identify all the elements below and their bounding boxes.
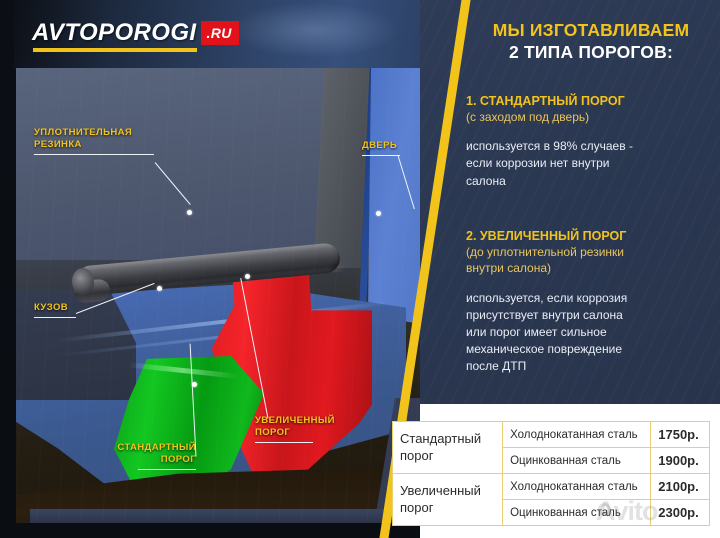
diagram-bottom-strip [30, 509, 420, 523]
callout-standard-underline [138, 469, 196, 471]
callout-door-underline [362, 155, 400, 157]
callout-standard-label: СТАНДАРТНЫЙ ПОРОГ [86, 442, 196, 466]
callout-seal: УПЛОТНИТЕЛЬНАЯ РЕЗИНКА [34, 127, 154, 155]
price-value: 2300р. [651, 500, 710, 526]
callout-standard-dot [192, 382, 197, 387]
table-row: Стандартный порог Холоднокатанная сталь … [393, 422, 710, 448]
price-value: 2100р. [651, 474, 710, 500]
table-row: Увеличенный порог Холоднокатанная сталь … [393, 474, 710, 500]
standard-sill-shape [114, 356, 264, 501]
door-edge [358, 68, 376, 324]
price-material: Холоднокатанная сталь [503, 422, 651, 448]
callout-enlarged-underline [255, 442, 313, 444]
enlarged-sill-shape [212, 254, 372, 489]
upper-body-panel [16, 68, 346, 260]
floor-shadow [16, 466, 420, 523]
callout-seal-label: УПЛОТНИТЕЛЬНАЯ РЕЗИНКА [34, 127, 154, 151]
callout-standard-sill: СТАНДАРТНЫЙ ПОРОГ [86, 442, 196, 470]
callout-body-underline [34, 317, 76, 319]
poster-root: AVTOPOROGI .RU УПЛОТНИТЕЛЬНАЯ РЕЗИНКА ДВ… [0, 0, 720, 538]
headline-line-2: 2 ТИПА ПОРОГОВ: [466, 42, 716, 64]
diagram-stage [0, 0, 420, 538]
standard-sill-highlight [128, 362, 238, 378]
price-material: Холоднокатанная сталь [503, 474, 651, 500]
block-2-body: используется, если коррозия присутствует… [466, 290, 712, 375]
headline-line-1: МЫ ИЗГОТАВЛИВАЕМ [466, 20, 716, 42]
block-1-title: 1. СТАНДАРТНЫЙ ПОРОГ [466, 93, 712, 109]
callout-enlarged-dot [245, 274, 250, 279]
price-group-standard: Стандартный порог [393, 422, 503, 474]
callout-door-dot [376, 211, 381, 216]
door-seal-rubber [75, 242, 342, 297]
sill-type-block-standard: 1. СТАНДАРТНЫЙ ПОРОГ (с заходом под двер… [466, 93, 712, 190]
callout-door: ДВЕРЬ [362, 140, 400, 156]
sill-type-block-enlarged: 2. УВЕЛИЧЕННЫЙ ПОРОГ (до уплотнительной … [466, 228, 712, 375]
block-1-subtitle: (с заходом под дверь) [466, 109, 712, 125]
headline: МЫ ИЗГОТАВЛИВАЕМ 2 ТИПА ПОРОГОВ: [466, 20, 716, 64]
price-material: Оцинкованная сталь [503, 500, 651, 526]
door-seal-lip [73, 278, 111, 303]
callout-body: КУЗОВ [34, 302, 76, 318]
block-1-body: используется в 98% случаев - если корроз… [466, 138, 712, 189]
callout-enlarged-label: УВЕЛИЧЕННЫЙ ПОРОГ [255, 415, 375, 439]
callout-door-label: ДВЕРЬ [362, 140, 400, 152]
body-highlight-secondary [57, 318, 375, 357]
callout-seal-underline [34, 154, 154, 156]
logo-underline-bar [33, 48, 197, 52]
callout-body-dot [157, 286, 162, 291]
logo-wordmark: AVTOPOROGI [32, 21, 196, 45]
callout-seal-dot [187, 210, 192, 215]
door-panel [368, 68, 420, 326]
car-body-shape [16, 284, 406, 519]
price-material: Оцинкованная сталь [503, 448, 651, 474]
body-highlight [57, 301, 385, 342]
callout-enlarged-sill: УВЕЛИЧЕННЫЙ ПОРОГ [255, 415, 375, 443]
enlarged-sill-highlight [226, 262, 346, 272]
door-gap-panel [314, 68, 389, 268]
brand-logo[interactable]: AVTOPOROGI .RU [32, 21, 239, 45]
price-value: 1750р. [651, 422, 710, 448]
block-2-title: 2. УВЕЛИЧЕННЫЙ ПОРОГ [466, 228, 712, 244]
callout-body-label: КУЗОВ [34, 302, 76, 314]
price-value: 1900р. [651, 448, 710, 474]
price-table: Стандартный порог Холоднокатанная сталь … [392, 421, 710, 526]
logo-tld-badge: .RU [201, 21, 238, 45]
price-group-enlarged: Увеличенный порог [393, 474, 503, 526]
block-2-subtitle: (до уплотнительной резинки внутри салона… [466, 244, 712, 276]
watermark-icon [598, 503, 611, 516]
door-seal-end-cap [71, 267, 95, 297]
